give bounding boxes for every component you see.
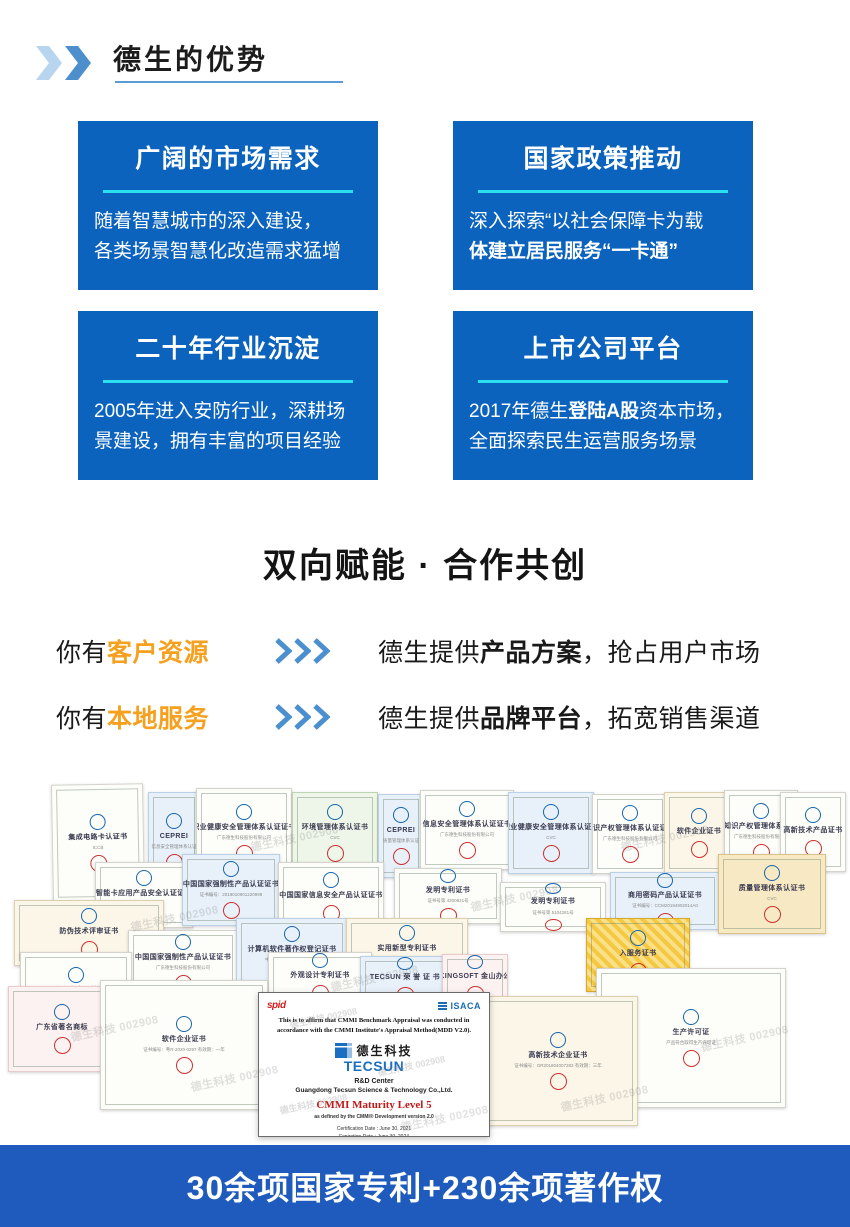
certificate-subtitle: 广东德生科技股份有限公司 [603, 836, 657, 843]
certificate-title: 发明专利证书 [531, 897, 575, 908]
certificate-emblem-icon [543, 804, 559, 820]
certificate-subtitle: 证书号第 4200821号 [427, 898, 468, 905]
synergy-right-suffix: ，拓宽销售渠道 [582, 705, 761, 733]
advantage-card-market-demand: 广阔的市场需求 随着智慧城市的深入建设， 各类场景智慧化改造需求猛增 [78, 121, 378, 290]
certificate-subtitle: CVC [767, 896, 777, 903]
synergy-left-highlight: 本地服务 [107, 705, 209, 733]
certificate-emblem-icon [136, 870, 152, 886]
certificate-subtitle: ICCB [93, 845, 104, 852]
synergy-row-customer-resources: 你有客户资源 德生提供产品方案，抢占用户市场 [0, 625, 850, 677]
advantage-body-pre: 2017年德生 [469, 401, 568, 422]
certificate-title: 高新技术产品证书 [783, 826, 842, 837]
certificate-emblem-icon [397, 957, 413, 970]
certificate-collage: 集成电路卡认证书ICCBCEPREI信息安全管理体系认证职业健康安全管理体系认证… [0, 770, 850, 1145]
synergy-right-text: 德生提供产品方案，抢占用户市场 [378, 633, 761, 669]
certificate-title: 软件企业证书 [677, 827, 721, 838]
certificate-subtitle: CVC [330, 835, 340, 842]
certificate-title: CEPREI [387, 826, 415, 837]
cmmi-defined-by: as defined by the CMMI® Development vers… [314, 1114, 434, 1120]
tecsun-logo-icon [335, 1043, 352, 1058]
cmmi-company: Guangdong Tecsun Science & Technology Co… [295, 1087, 452, 1094]
certificate-emblem-icon [440, 869, 456, 883]
certificate-subtitle: 广东德生科技股份有限公司 [217, 835, 271, 842]
certificate-subtitle: 信息安全管理体系认证 [152, 844, 197, 851]
advantage-card-title: 国家政策推动 [523, 143, 682, 175]
synergy-row-local-service: 你有本地服务 德生提供品牌平台，拓宽销售渠道 [0, 691, 850, 743]
official-seal-icon [223, 902, 240, 919]
synergy-section-title: 双向赋能 · 合作共创 [0, 538, 850, 587]
certificate-subtitle: 产品符合取得生产许可证 [666, 1040, 716, 1047]
footer-banner-text: 30余项国家专利+230余项著作权 [187, 1163, 664, 1209]
certificate-thumbnail: 高新技术企业证书证书编号：GR201804007283 有效期：三年 [478, 996, 638, 1126]
advantage-card-body-line2: 景建设，拥有丰富的项目经验 [94, 427, 362, 457]
synergy-left-text: 你有本地服务 [56, 699, 244, 735]
certificate-emblem-icon [467, 955, 483, 969]
isaca-label: ISACA [450, 1001, 481, 1011]
advantage-card-body: 随着智慧城市的深入建设， 各类场景智慧化改造需求猛增 [94, 207, 362, 267]
advantage-card-body-line1: 深入探索“以社会保障卡为载 [469, 207, 737, 237]
certificate-emblem-icon [753, 803, 769, 819]
certificate-subtitle: CVC [546, 835, 556, 842]
certificate-thumbnail: 知识产权管理体系认证证书广东德生科技股份有限公司 [592, 794, 668, 874]
advantage-card-body-line1: 2005年进入安防行业，深耕场 [94, 397, 362, 427]
official-seal-icon [550, 1073, 567, 1090]
certificate-title: 入服务证书 [620, 949, 657, 960]
certificate-emblem-icon [312, 953, 328, 968]
official-seal-icon [54, 1037, 71, 1054]
certificate-emblem-icon [764, 865, 780, 881]
official-seal-icon [622, 846, 639, 863]
certificate-title: 中国国家强制性产品认证证书 [183, 880, 279, 891]
certificate-title: 防伪技术评审证书 [59, 927, 118, 938]
certificate-emblem-icon [550, 1032, 566, 1048]
certificate-title: 中国国家信息安全产品认证证书 [279, 891, 383, 902]
certificate-title: 环境管理体系认证书 [302, 823, 369, 834]
footer-banner: 30余项国家专利+230余项著作权 [0, 1145, 850, 1227]
certificate-emblem-icon [805, 807, 821, 823]
certificate-cmmi-level5: spid ISACA This is to affirm that CMMI B… [258, 992, 490, 1137]
cmmi-division: R&D Center [354, 1078, 393, 1085]
certificate-emblem-icon [622, 805, 638, 821]
cmmi-dates: Certification Date : June 30, 2021 Expir… [337, 1125, 411, 1137]
certificate-emblem-icon [323, 872, 339, 888]
certificate-emblem-icon [68, 967, 84, 983]
section-header: 德生的优势 [0, 28, 850, 98]
synergy-left-text: 你有客户资源 [56, 633, 244, 669]
cmmi-maturity-level: CMMI Maturity Level 5 [316, 1099, 431, 1111]
certificate-title: 职业健康安全管理体系认证证书 [196, 823, 292, 834]
advantage-card-title: 二十年行业沉淀 [135, 333, 321, 365]
synergy-left-highlight: 客户资源 [107, 639, 209, 667]
official-seal-icon [545, 919, 562, 931]
certificate-title: CEPREI [160, 832, 188, 843]
certificate-title: 知识产权管理体系认证证书 [592, 824, 668, 835]
tecsun-brand-lockup: 德生科技 [335, 1042, 412, 1059]
official-seal-icon [176, 1057, 193, 1074]
certificate-emblem-icon [54, 1004, 70, 1020]
advantage-body-bold: 登陆A股 [568, 401, 639, 422]
certificate-title: KINGSOFT 金山办公 [442, 972, 508, 983]
certificate-title: 智能卡应用产品安全认证证书 [96, 889, 192, 900]
certificate-thumbnail: 软件企业证书证书编号：粤R-2020-0297 有效期：一年 [100, 980, 268, 1110]
synergy-left-prefix: 你有 [56, 705, 107, 733]
official-seal-icon [691, 841, 708, 858]
advantage-card-body-line1: 2017年德生登陆A股资本市场， [469, 397, 737, 427]
spid-logo: spid [267, 1000, 286, 1011]
chevron-right-icon [275, 638, 292, 664]
certificate-title: 外观设计专利证书 [290, 971, 349, 982]
title-underline [115, 81, 343, 83]
chevron-right-dark-icon [65, 46, 91, 80]
cmmi-header-row: spid ISACA [267, 1000, 481, 1011]
cmmi-affirmation-line1: This is to affirm that CMMI Benchmark Ap… [279, 1016, 470, 1025]
certificate-subtitle: 证书编号：CCM20194902014A0 [632, 903, 698, 910]
synergy-arrows [244, 704, 360, 730]
certificate-emblem-icon [89, 814, 105, 830]
synergy-left-prefix: 你有 [56, 639, 107, 667]
certificate-title: 软件企业证书 [162, 1035, 206, 1046]
certificate-subtitle: 证书编号：粤R-2020-0297 有效期：一年 [143, 1047, 225, 1054]
advantage-body-post: 资本市场， [639, 401, 734, 422]
certificate-thumbnail: 发明专利证书证书号第 4200821号 [394, 868, 502, 924]
advantage-card-body-line2: 各类场景智慧化改造需求猛增 [94, 237, 362, 267]
advantage-card-body-line2: 全面探索民生运营服务场景 [469, 427, 737, 457]
official-seal-icon [393, 848, 410, 865]
advantage-card-divider [103, 190, 353, 193]
advantage-card-title: 广阔的市场需求 [135, 143, 321, 175]
advantage-card-title: 上市公司平台 [523, 333, 682, 365]
certificate-emblem-icon [459, 801, 475, 817]
chevron-right-icon [294, 704, 311, 730]
certificate-subtitle: 证书号第 5104281号 [532, 910, 573, 917]
certificate-emblem-icon [683, 1009, 699, 1025]
synergy-right-prefix: 德生提供 [378, 705, 480, 733]
certificate-title: 生产许可证 [673, 1028, 710, 1039]
official-seal-icon [764, 906, 781, 923]
cmmi-certification-date: Certification Date : June 30, 2021 [337, 1125, 411, 1133]
certificate-title: 信息安全管理体系认证证书 [423, 820, 512, 831]
advantage-card-body-line2: 体建立居民服务“一卡通” [469, 237, 737, 267]
certificate-thumbnail: 信息安全管理体系认证证书广东德生科技股份有限公司 [420, 790, 514, 870]
advantage-card-national-policy: 国家政策推动 深入探索“以社会保障卡为载 体建立居民服务“一卡通” [453, 121, 753, 290]
certificate-title: TECSUN 荣 誉 证 书 [370, 973, 440, 984]
certificate-emblem-icon [393, 807, 409, 823]
certificate-emblem-icon [81, 908, 97, 924]
advantage-card-divider [103, 380, 353, 383]
synergy-right-text: 德生提供品牌平台，拓宽销售渠道 [378, 699, 761, 735]
certificate-title: 高新技术企业证书 [528, 1051, 587, 1062]
page-title: 德生的优势 [113, 43, 343, 81]
certificate-emblem-icon [236, 804, 252, 820]
certificate-emblem-icon [175, 934, 191, 950]
synergy-right-bold: 品牌平台 [480, 705, 582, 733]
advantage-card-divider [478, 380, 728, 383]
chevron-right-light-icon [36, 46, 62, 80]
certificate-title: 职业健康安全管理体系认证书 [508, 823, 594, 834]
certificate-title: 中国国家强制性产品认证证书 [135, 953, 231, 964]
advantage-card-listed-company: 上市公司平台 2017年德生登陆A股资本市场， 全面探索民生运营服务场景 [453, 311, 753, 480]
cmmi-expiration-date: Expiration Date : June 30, 2024 [337, 1133, 411, 1137]
certificate-subtitle: 证书编号：2019010901220999 [200, 892, 263, 899]
certificate-emblem-icon [691, 808, 707, 824]
tecsun-brand-en: TECSUN [344, 1058, 405, 1074]
official-seal-icon [459, 842, 476, 859]
chevron-right-icon [294, 638, 311, 664]
cmmi-affirmation-line2: accordance with the CMMI Institute's App… [277, 1026, 471, 1035]
synergy-right-prefix: 德生提供 [378, 639, 480, 667]
certificate-emblem-icon [327, 804, 343, 820]
certificate-title: 集成电路卡认证书 [68, 832, 127, 844]
chevron-right-icon [275, 704, 292, 730]
advantage-card-body: 深入探索“以社会保障卡为载 体建立居民服务“一卡通” [469, 207, 737, 267]
chevron-right-icon [313, 638, 330, 664]
synergy-rows: 你有客户资源 德生提供产品方案，抢占用户市场 你有本地服务 德生提供品牌平台，拓… [0, 625, 850, 743]
certificate-emblem-icon [657, 873, 673, 888]
advantage-card-divider [478, 190, 728, 193]
certificate-thumbnail: 中国国家强制性产品认证证书证书编号：2019010901220999 [182, 854, 280, 926]
certificate-emblem-icon [176, 1016, 192, 1032]
advantage-card-industry-experience: 二十年行业沉淀 2005年进入安防行业，深耕场 景建设，拥有丰富的项目经验 [78, 311, 378, 480]
official-seal-icon [683, 1050, 700, 1067]
certificate-title: 发明专利证书 [426, 886, 470, 897]
certificate-subtitle: 质量管理体系认证 [383, 838, 419, 845]
chevron-right-icon [313, 704, 330, 730]
certificate-subtitle: 证书编号：GR201804007283 有效期：三年 [514, 1063, 602, 1070]
isaca-mark-icon [438, 1001, 447, 1010]
synergy-arrows [244, 638, 360, 664]
certificate-subtitle: 广东德生科技股份有限公司 [156, 965, 210, 972]
synergy-right-suffix: ，抢占用户市场 [582, 639, 761, 667]
synergy-right-bold: 产品方案 [480, 639, 582, 667]
certificate-emblem-icon [284, 926, 300, 942]
certificate-thumbnail: CEPREI质量管理体系认证 [378, 794, 424, 878]
advantage-cards-grid: 广阔的市场需求 随着智慧城市的深入建设， 各类场景智慧化改造需求猛增 国家政策推… [78, 121, 778, 480]
certificate-emblem-icon [630, 930, 646, 946]
official-seal-icon [327, 845, 344, 862]
chevron-pair [36, 46, 91, 80]
advantage-card-body: 2017年德生登陆A股资本市场， 全面探索民生运营服务场景 [469, 397, 737, 457]
certificate-title: 质量管理体系认证书 [739, 884, 806, 895]
certificate-emblem-icon [399, 925, 415, 941]
certificate-title: 广东省著名商标 [36, 1023, 88, 1034]
certificate-emblem-icon [166, 813, 182, 829]
tecsun-brand-cn: 德生科技 [356, 1042, 412, 1059]
isaca-logo: ISACA [438, 1001, 481, 1011]
advantage-card-body: 2005年进入安防行业，深耕场 景建设，拥有丰富的项目经验 [94, 397, 362, 457]
certificate-thumbnail: 质量管理体系认证书CVC [718, 854, 826, 934]
certificate-emblem-icon [223, 861, 239, 877]
certificate-title: 实用新型专利证书 [377, 944, 436, 955]
advantage-card-body-line1: 随着智慧城市的深入建设， [94, 207, 362, 237]
certificate-subtitle: 广东德生科技股份有限公司 [440, 832, 494, 839]
certificate-title: 商用密码产品认证证书 [628, 891, 702, 902]
certificate-emblem-icon [545, 883, 561, 894]
official-seal-icon [543, 845, 560, 862]
section-header-title-block: 德生的优势 [113, 43, 343, 83]
certificate-thumbnail: 职业健康安全管理体系认证书CVC [508, 792, 594, 874]
